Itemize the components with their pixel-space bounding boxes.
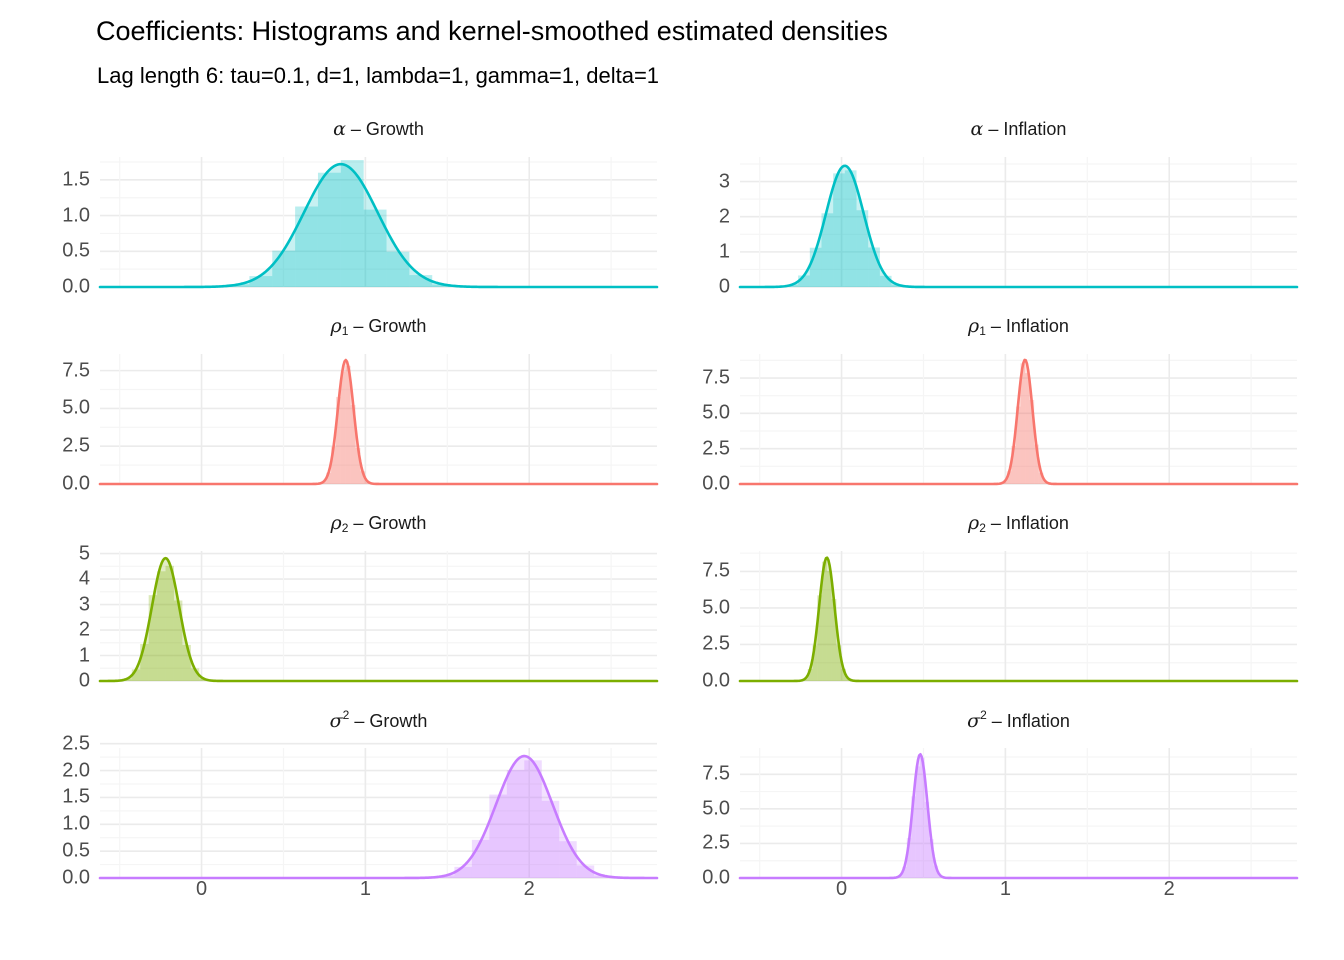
y-tick-label: 0.0 bbox=[62, 867, 90, 890]
plot-area-alpha-inflation bbox=[740, 157, 1297, 287]
panel-title-rho2-growth: ρ2 – Growth bbox=[100, 512, 657, 534]
plot-area-rho1-inflation bbox=[740, 354, 1297, 484]
y-tick-label: 1.5 bbox=[62, 786, 90, 809]
y-tick-label: 1 bbox=[719, 240, 730, 263]
panel-title-sigma2-inflation: σ2 – Inflation bbox=[740, 710, 1297, 732]
y-tick-label: 3 bbox=[719, 170, 730, 193]
y-axis-rho2-growth: 012345 bbox=[5, 551, 90, 681]
plot-area-rho2-growth bbox=[100, 551, 657, 681]
y-axis-sigma2-inflation: 0.02.55.07.5 bbox=[645, 748, 730, 878]
x-tick-label: 0 bbox=[836, 878, 847, 901]
x-tick-label: 2 bbox=[524, 878, 535, 901]
plot-area-alpha-growth bbox=[100, 157, 657, 287]
y-tick-label: 2.5 bbox=[702, 633, 730, 656]
y-tick-label: 1 bbox=[79, 644, 90, 667]
y-tick-label: 2.5 bbox=[702, 832, 730, 855]
y-tick-label: 0 bbox=[719, 276, 730, 299]
y-axis-rho1-inflation: 0.02.55.07.5 bbox=[645, 354, 730, 484]
panel-title-rho1-inflation: ρ1 – Inflation bbox=[740, 315, 1297, 337]
y-tick-label: 0.5 bbox=[62, 240, 90, 263]
density-plot-figure: Coefficients: Histograms and kernel-smoo… bbox=[0, 0, 1344, 960]
panel-title-rho2-inflation: ρ2 – Inflation bbox=[740, 512, 1297, 534]
x-tick-label: 1 bbox=[1000, 878, 1011, 901]
y-tick-label: 7.5 bbox=[62, 359, 90, 382]
x-axis-column-2: 012 bbox=[740, 878, 1297, 908]
y-tick-label: 4 bbox=[79, 568, 90, 591]
y-tick-label: 0.0 bbox=[62, 473, 90, 496]
y-axis-rho1-growth: 0.02.55.07.5 bbox=[5, 354, 90, 484]
y-tick-label: 7.5 bbox=[702, 560, 730, 583]
y-tick-label: 0.0 bbox=[62, 276, 90, 299]
y-axis-alpha-inflation: 0123 bbox=[645, 157, 730, 287]
plot-area-sigma2-growth bbox=[100, 748, 657, 878]
y-tick-label: 1.0 bbox=[62, 204, 90, 227]
y-axis-rho2-inflation: 0.02.55.07.5 bbox=[645, 551, 730, 681]
plot-area-sigma2-inflation bbox=[740, 748, 1297, 878]
y-tick-label: 7.5 bbox=[702, 763, 730, 786]
y-tick-label: 2.0 bbox=[62, 759, 90, 782]
page-title: Coefficients: Histograms and kernel-smoo… bbox=[96, 16, 888, 47]
y-tick-label: 1.0 bbox=[62, 813, 90, 836]
y-tick-label: 2 bbox=[719, 205, 730, 228]
y-tick-label: 1.5 bbox=[62, 168, 90, 191]
y-tick-label: 2.5 bbox=[62, 732, 90, 755]
y-tick-label: 0.0 bbox=[702, 670, 730, 693]
y-tick-label: 3 bbox=[79, 593, 90, 616]
y-tick-label: 2.5 bbox=[702, 437, 730, 460]
y-axis-sigma2-growth: 0.00.51.01.52.02.5 bbox=[5, 748, 90, 878]
panel-title-alpha-growth: α – Growth bbox=[100, 118, 657, 140]
y-tick-label: 0.5 bbox=[62, 840, 90, 863]
plot-area-rho1-growth bbox=[100, 354, 657, 484]
y-tick-label: 5.0 bbox=[62, 397, 90, 420]
page-subtitle: Lag length 6: tau=0.1, d=1, lambda=1, ga… bbox=[97, 63, 659, 89]
y-tick-label: 0.0 bbox=[702, 473, 730, 496]
panel-background bbox=[100, 354, 657, 484]
y-axis-alpha-growth: 0.00.51.01.5 bbox=[5, 157, 90, 287]
panel-title-rho1-growth: ρ1 – Growth bbox=[100, 315, 657, 337]
panel-title-alpha-inflation: α – Inflation bbox=[740, 118, 1297, 140]
y-tick-label: 0 bbox=[79, 670, 90, 693]
x-tick-label: 1 bbox=[360, 878, 371, 901]
y-tick-label: 5.0 bbox=[702, 797, 730, 820]
y-tick-label: 5.0 bbox=[702, 596, 730, 619]
panel-title-sigma2-growth: σ2 – Growth bbox=[100, 710, 657, 732]
plot-area-rho2-inflation bbox=[740, 551, 1297, 681]
x-axis-column-1: 012 bbox=[100, 878, 657, 908]
x-tick-label: 0 bbox=[196, 878, 207, 901]
y-tick-label: 0.0 bbox=[702, 867, 730, 890]
y-tick-label: 5.0 bbox=[702, 402, 730, 425]
x-tick-label: 2 bbox=[1164, 878, 1175, 901]
y-tick-label: 2.5 bbox=[62, 435, 90, 458]
y-tick-label: 7.5 bbox=[702, 367, 730, 390]
y-tick-label: 5 bbox=[79, 542, 90, 565]
y-tick-label: 2 bbox=[79, 619, 90, 642]
panel-background bbox=[740, 748, 1297, 878]
